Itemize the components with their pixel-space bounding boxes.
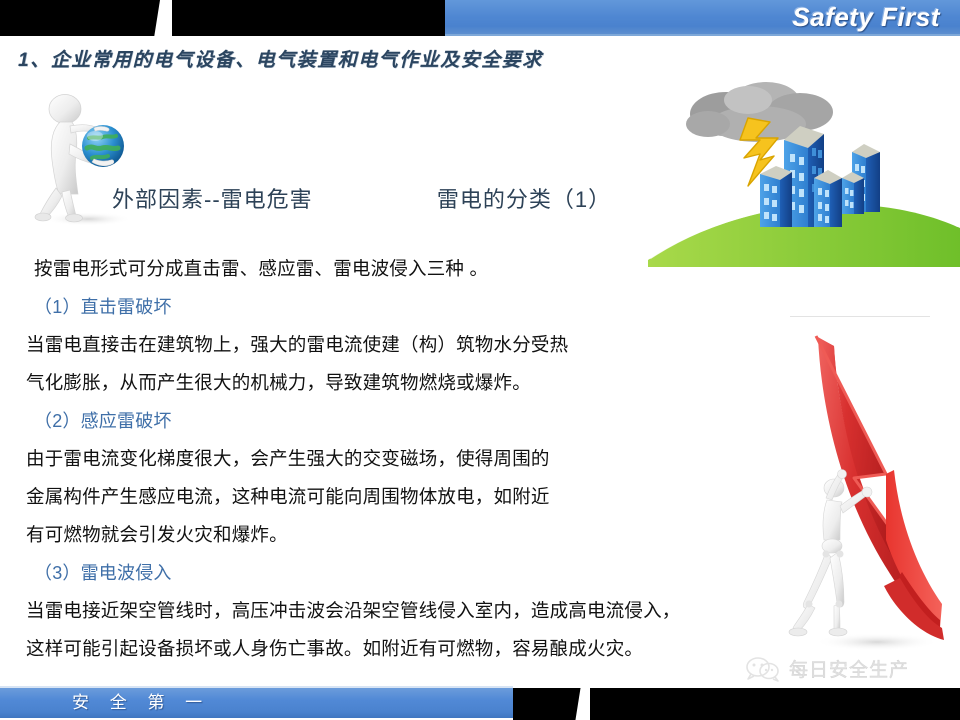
slide-header: Safety First <box>0 0 960 36</box>
body-line-heading: （2）感应雷破坏 <box>26 402 816 440</box>
red-rising-arrow-icon <box>782 310 960 660</box>
body-line: 金属构件产生感应电流，这种电流可能向周围物体放电，如附近 <box>26 478 816 516</box>
header-blue-underline <box>445 34 960 36</box>
footer-black-block-left <box>513 688 583 720</box>
cloud-lightning-city-icon <box>648 82 960 267</box>
footer-label: 安 全 第 一 <box>72 690 210 716</box>
body-line: 按雷电形式可分成直击雷、感应雷、雷电波侵入三种 。 <box>26 250 816 288</box>
body-line: 当雷电接近架空管线时，高压冲击波会沿架空管线侵入室内，造成高电流侵入， <box>26 592 816 630</box>
brand-title: Safety First <box>792 1 940 33</box>
subtitle-left: 外部因素--雷电危害 <box>112 187 313 212</box>
slide-footer: 安 全 第 一 <box>0 686 960 720</box>
watermark-text: 每日安全生产 <box>789 655 909 682</box>
body-line: 有可燃物就会引发火灾和爆炸。 <box>26 516 816 554</box>
slide-canvas: Safety First 1、企业常用的电气设备、电气装置和电气作业及安全要求 <box>0 0 960 720</box>
body-line: 这样可能引起设备损坏或人身伤亡事故。如附近有可燃物，容易酿成火灾。 <box>26 630 816 668</box>
body-line: 由于雷电流变化梯度很大，会产生强大的交变磁场，使得周围的 <box>26 440 816 478</box>
body-line: 气化膨胀，从而产生很大的机械力，导致建筑物燃烧或爆炸。 <box>26 364 816 402</box>
wechat-icon <box>745 656 781 682</box>
header-black-block-right <box>172 0 446 36</box>
footer-black-block-right <box>590 688 960 720</box>
body-text-block: 按雷电形式可分成直击雷、感应雷、雷电波侵入三种 。 （1）直击雷破坏 当雷电直接… <box>26 250 816 668</box>
body-line-heading: （1）直击雷破坏 <box>26 288 816 326</box>
watermark: 每日安全生产 <box>745 655 909 682</box>
body-line: 当雷电直接击在建筑物上，强大的雷电流使建（构）筑物水分受热 <box>26 326 816 364</box>
page-title: 1、企业常用的电气设备、电气装置和电气作业及安全要求 <box>18 45 543 72</box>
subtitle-right: 雷电的分类（1） <box>437 187 611 212</box>
body-line-heading: （3）雷电波侵入 <box>26 554 816 592</box>
header-black-block-left <box>0 0 160 36</box>
subtitle-row: 外部因素--雷电危害 雷电的分类（1） <box>112 182 611 214</box>
